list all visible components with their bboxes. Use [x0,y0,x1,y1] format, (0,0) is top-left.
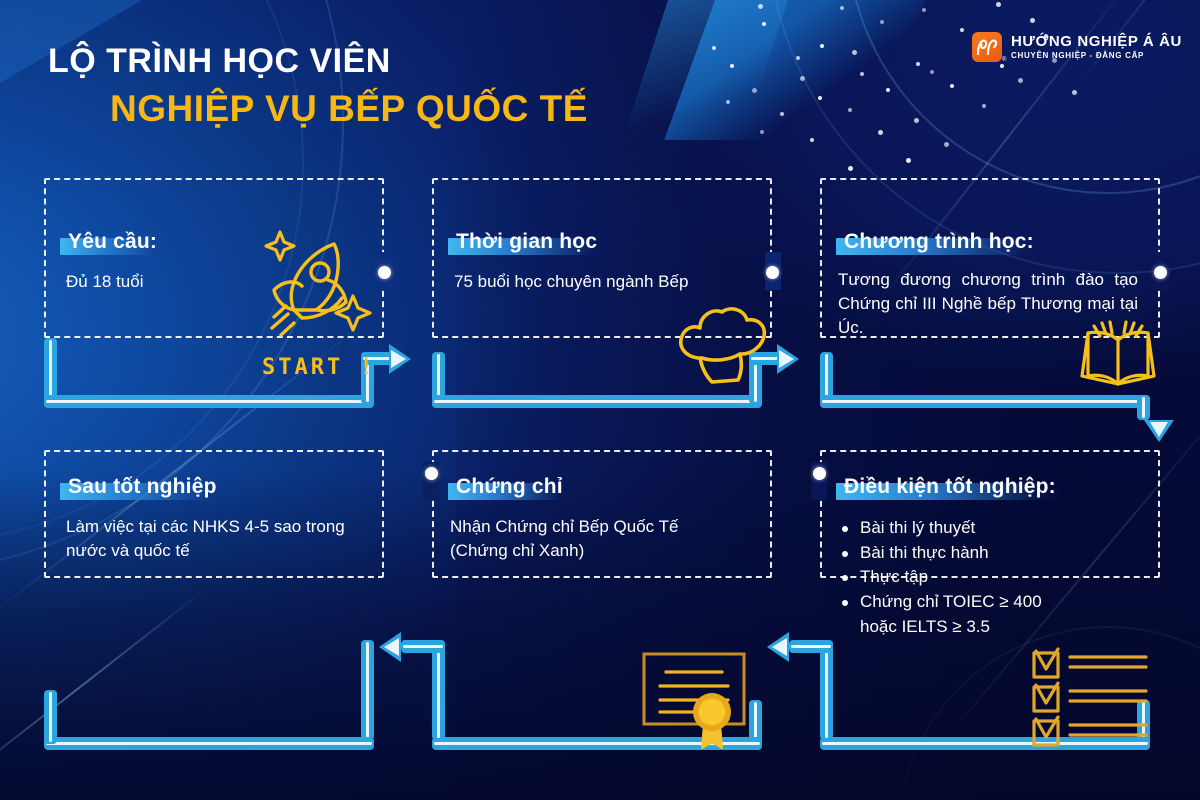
graduation-requirements-list: Bài thi lý thuyết Bài thi thực hành Thực… [838,516,1158,639]
registered-mark: ® [1002,57,1006,63]
heading-text: Chứng chỉ [448,475,569,501]
arrow-down-icon [1144,420,1174,442]
brand-name: HƯỚNG NGHIỆP Á ÂU [1011,34,1182,49]
flow-node-dot [425,467,438,480]
card-sau-tot-nghiep[interactable]: Sau tốt nghiệp Làm việc tại các NHKS 4-5… [44,450,384,578]
arrow-left-icon [379,632,401,662]
brand-slogan: CHUYÊN NGHIỆP - ĐẲNG CẤP [1011,52,1182,60]
card-dieu-kien-tot-nghiep[interactable]: Điều kiện tốt nghiệp: Bài thi lý thuyết … [820,450,1160,578]
start-label: START ! [262,355,376,380]
card-body-sau-tot-nghiep: Làm việc tại các NHKS 4-5 sao trong nước… [66,515,376,563]
checklist-icon [1028,645,1158,760]
flow-node-dot [1154,266,1167,279]
arrow-left-icon [767,632,789,662]
title-line-2: NGHIỆP VỤ BẾP QUỐC TẾ [110,90,588,129]
card-body-line-2: (Chứng chỉ Xanh) [450,539,770,563]
card-heading-thoi-gian-hoc: Thời gian học [448,230,603,256]
heading-text: Sau tốt nghiệp [60,475,223,501]
card-chuong-trinh-hoc[interactable]: Chương trình học: Tương đương chương trì… [820,178,1160,338]
heading-text: Yêu cầu: [60,230,163,256]
card-body-thoi-gian-hoc: 75 buổi học chuyên ngành Bếp [454,270,774,294]
card-heading-dieu-kien-tot-nghiep: Điều kiện tốt nghiệp: [836,475,1062,501]
flow-node-dot [813,467,826,480]
card-body-line-1: Nhận Chứng chỉ Bếp Quốc Tế [450,515,770,539]
list-item: Bài thi thực hành [838,541,1158,566]
card-heading-chung-chi: Chứng chỉ [448,475,569,501]
card-body-yeu-cau: Đủ 18 tuổi [66,270,266,294]
card-heading-yeu-cau: Yêu cầu: [60,230,163,256]
chef-hat-icon [672,300,772,397]
arrow-right-icon [777,344,799,374]
heading-text: Thời gian học [448,230,603,256]
card-heading-chuong-trinh-hoc: Chương trình học: [836,230,1040,256]
page-title: LỘ TRÌNH HỌC VIÊN NGHIỆP VỤ BẾP QUỐC TẾ [48,44,588,129]
card-heading-sau-tot-nghiep: Sau tốt nghiệp [60,475,223,501]
heading-text: Chương trình học: [836,230,1040,256]
list-item: Chứng chỉ TOIEC ≥ 400 [838,590,1158,615]
arrow-right-icon [389,344,411,374]
list-item: Bài thi lý thuyết [838,516,1158,541]
brand-logo[interactable]: HƯỚNG NGHIỆP Á ÂU CHUYÊN NGHIỆP - ĐẲNG C… [972,32,1182,62]
open-book-icon [1078,318,1158,397]
title-line-1: LỘ TRÌNH HỌC VIÊN [48,44,588,80]
infographic-canvas: LỘ TRÌNH HỌC VIÊN NGHIỆP VỤ BẾP QUỐC TẾ … [0,0,1200,800]
card-body-chung-chi: Nhận Chứng chỉ Bếp Quốc Tế (Chứng chỉ Xa… [450,515,770,563]
certificate-icon [638,648,758,765]
rocket-icon [250,218,380,353]
starfield-decoration [700,0,1200,200]
list-item-continuation: hoặc IELTS ≥ 3.5 [838,615,1158,640]
card-chung-chi[interactable]: Chứng chỉ Nhận Chứng chỉ Bếp Quốc Tế (Ch… [432,450,772,578]
heading-text: Điều kiện tốt nghiệp: [836,475,1062,501]
list-item: Thực tập [838,565,1158,590]
brand-monogram-icon [972,32,1002,62]
